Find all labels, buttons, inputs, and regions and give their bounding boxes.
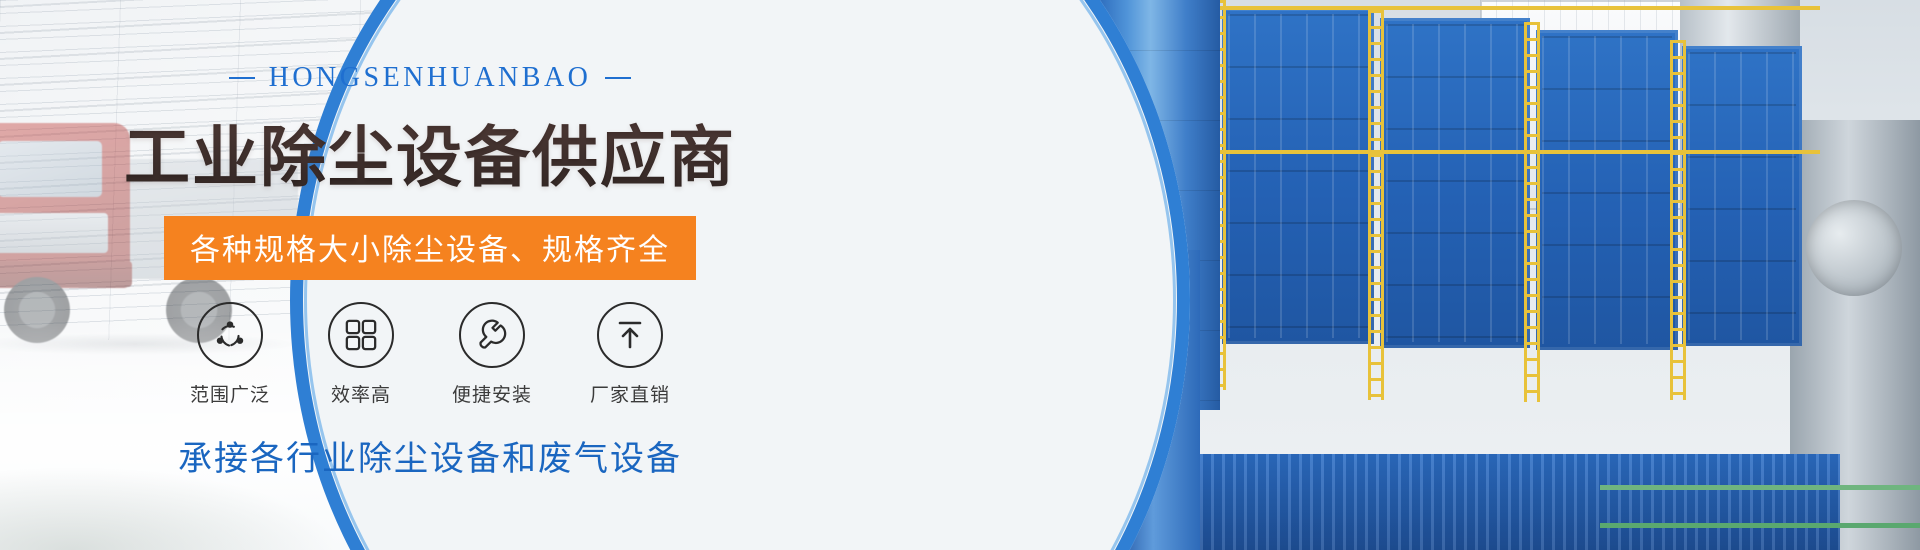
feature-label: 便捷安装 — [452, 380, 532, 407]
dash-left-icon — [229, 77, 255, 79]
feature-item-installation[interactable]: 便捷安装 — [452, 302, 532, 407]
feature-label: 效率高 — [331, 380, 391, 407]
feature-item-efficiency[interactable]: 效率高 — [328, 302, 394, 407]
share-nodes-icon — [197, 302, 263, 368]
page-title: 工业除尘设备供应商 — [124, 104, 736, 200]
feature-label: 厂家直销 — [590, 380, 670, 407]
banner-content: HONGSENHUANBAO 工业除尘设备供应商 各种规格大小除尘设备、规格齐全 — [0, 0, 860, 550]
wrench-icon — [459, 302, 525, 368]
feature-label: 范围广泛 — [190, 380, 270, 407]
tagline: 承接各行业除尘设备和废气设备 — [178, 431, 682, 480]
feature-item-factory-direct[interactable]: 厂家直销 — [590, 302, 670, 407]
grid-squares-icon — [328, 302, 394, 368]
arrow-up-bar-icon — [597, 302, 663, 368]
feature-item-range[interactable]: 范围广泛 — [190, 302, 270, 407]
feature-list: 范围广泛 效率高 — [190, 302, 670, 407]
dash-right-icon — [605, 77, 631, 79]
subtitle-orange-bar: 各种规格大小除尘设备、规格齐全 — [164, 216, 696, 280]
brand-eyebrow: HONGSENHUANBAO — [229, 62, 632, 94]
hero-banner: HONGSENHUANBAO 工业除尘设备供应商 各种规格大小除尘设备、规格齐全 — [0, 0, 1920, 550]
brand-eyebrow-text: HONGSENHUANBAO — [269, 62, 592, 94]
